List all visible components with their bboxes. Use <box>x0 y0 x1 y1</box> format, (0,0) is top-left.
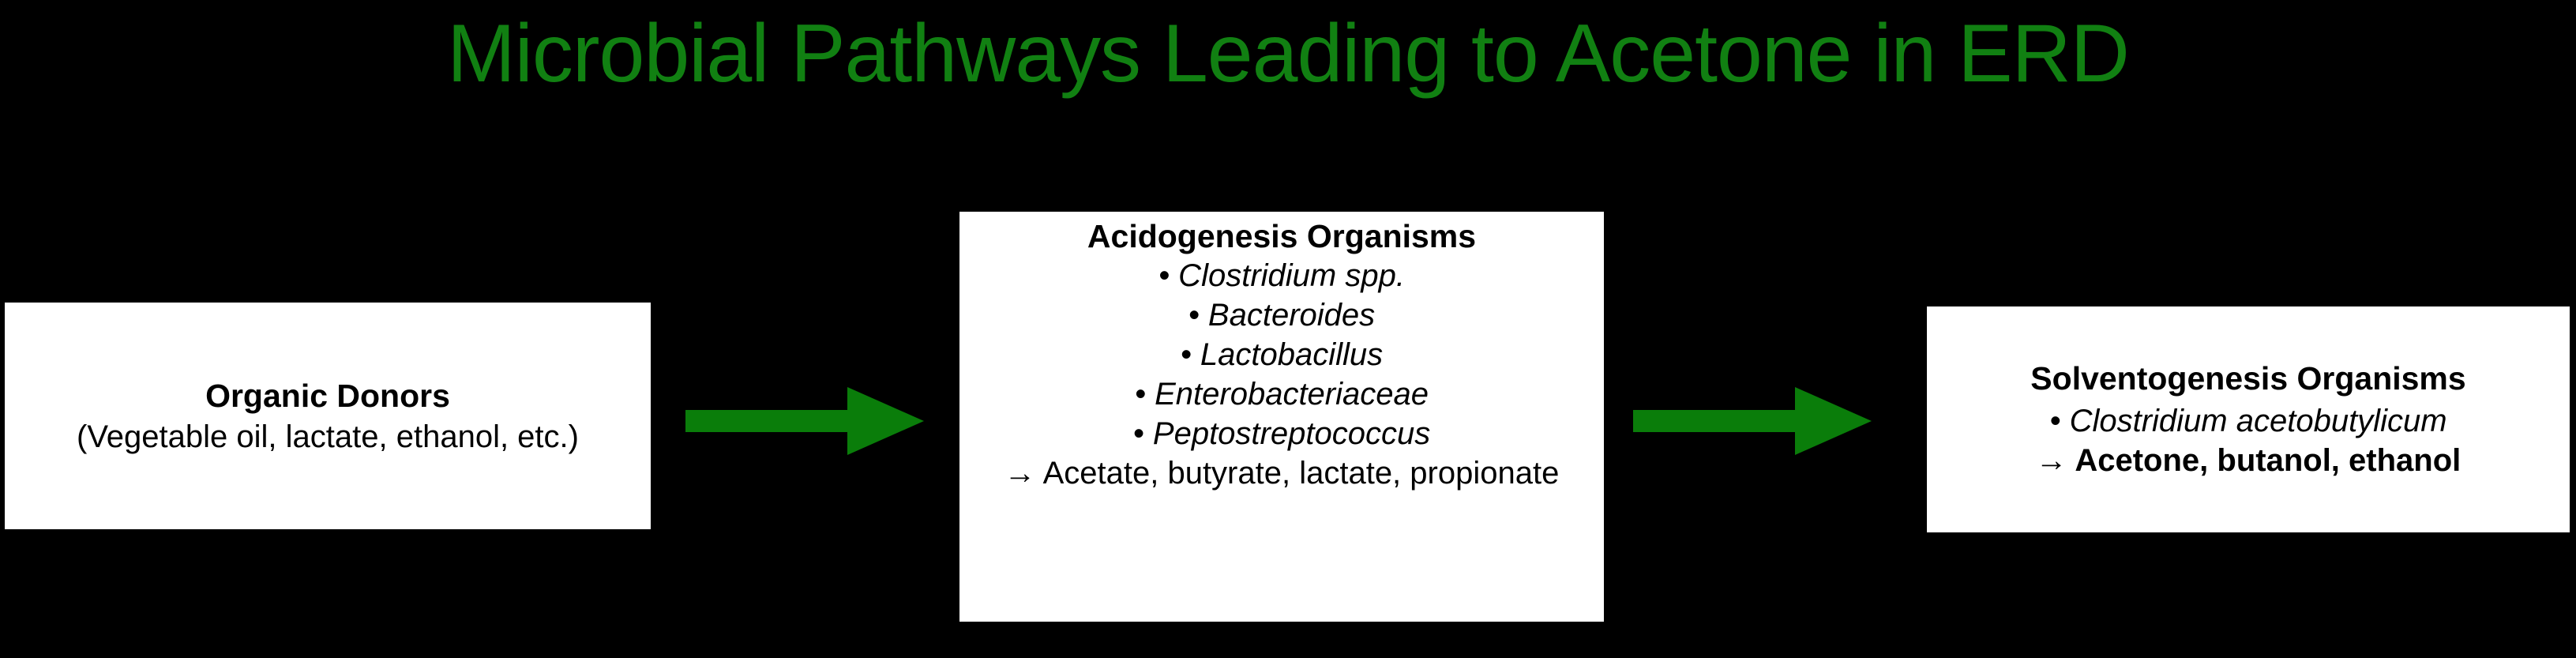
box-line-solventogenesis-0: • Clostridium acetobutylicum <box>2049 401 2446 441</box>
arrow-donors-to-acidogenesis-icon <box>685 387 924 459</box>
box-heading-acidogenesis: Acidogenesis Organisms <box>1087 216 1476 256</box>
arrow-acidogenesis-to-solventogenesis-icon <box>1633 387 1872 459</box>
box-heading-solventogenesis: Solventogenesis Organisms <box>2030 359 2465 398</box>
flow-box-organic-donors: Organic Donors (Vegetable oil, lactate, … <box>2 300 653 532</box>
box-line-solventogenesis-1: → Acetone, butanol, ethanol <box>2036 441 2461 480</box>
box-line-acidogenesis-3: • Enterobacteriaceae <box>1135 374 1429 414</box>
flow-box-solventogenesis: Solventogenesis Organisms • Clostridium … <box>1924 304 2572 535</box>
box-heading-organic-donors: Organic Donors <box>205 376 450 415</box>
diagram-canvas: Microbial Pathways Leading to Acetone in… <box>0 0 2576 658</box>
box-line-acidogenesis-1: • Bacteroides <box>1188 295 1375 335</box>
box-line-acidogenesis-0: • Clostridium spp. <box>1158 256 1405 295</box>
box-line-acidogenesis-4: • Peptostreptococcus <box>1133 414 1430 453</box>
box-line-acidogenesis-5: → Acetate, butyrate, lactate, propionate <box>1004 453 1560 493</box>
box-line-acidogenesis-2: • Lactobacillus <box>1181 335 1383 374</box>
flow-box-acidogenesis: Acidogenesis Organisms • Clostridium spp… <box>957 209 1606 624</box>
box-line-organic-donors-0: (Vegetable oil, lactate, ethanol, etc.) <box>77 417 579 457</box>
page-title: Microbial Pathways Leading to Acetone in… <box>0 6 2576 101</box>
